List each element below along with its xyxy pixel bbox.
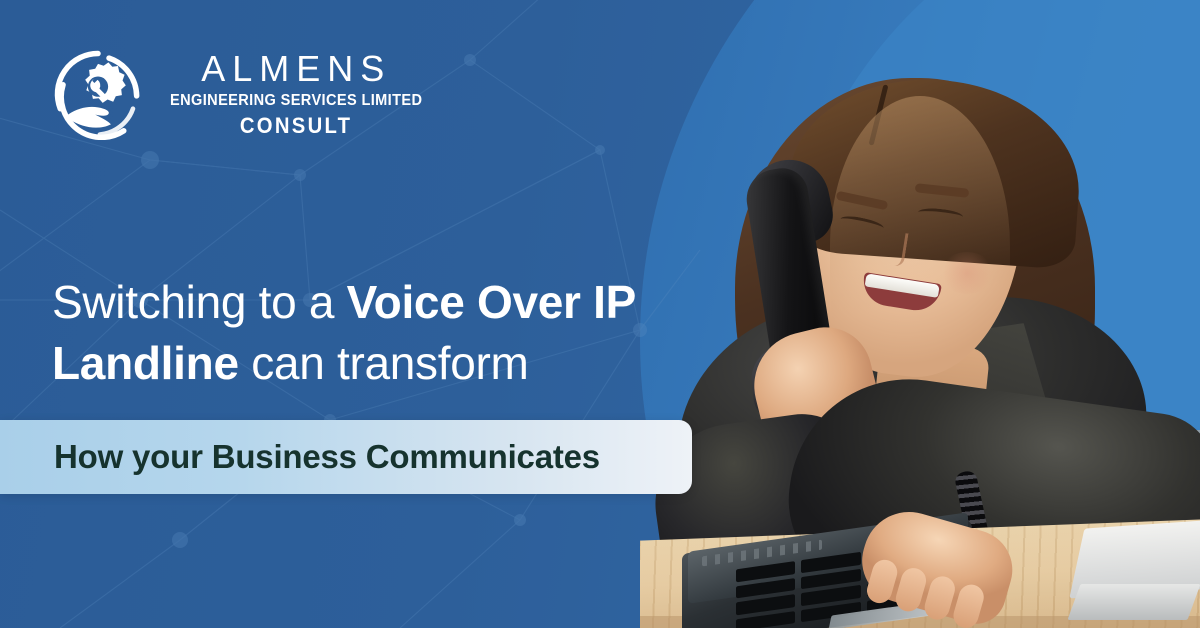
logo-wordmark: ALMENS ENGINEERING SERVICES LIMITED CONS…	[162, 51, 430, 138]
headline-part-3: can transform	[239, 337, 529, 389]
papers-on-desk-secondary	[1067, 584, 1200, 620]
brand-name: ALMENS	[201, 51, 391, 87]
hand-holding-gear-wrench-icon	[52, 48, 144, 140]
marketing-banner: ALMENS ENGINEERING SERVICES LIMITED CONS…	[0, 0, 1200, 628]
subtitle-text: How your Business Communicates	[54, 438, 600, 476]
headline-part-1: Switching to a	[52, 276, 347, 328]
headline-emphasis-1: Voice Over	[347, 276, 581, 328]
page-title: Switching to a Voice Over IP Landline ca…	[52, 272, 752, 393]
cheek	[940, 252, 994, 294]
headline-part-2	[581, 276, 593, 328]
brand-tagline: ENGINEERING SERVICES LIMITED	[170, 93, 422, 109]
subtitle-bar: How your Business Communicates	[0, 420, 692, 494]
brand-logo[interactable]: ALMENS ENGINEERING SERVICES LIMITED CONS…	[52, 48, 430, 140]
brand-division: CONSULT	[240, 115, 352, 137]
